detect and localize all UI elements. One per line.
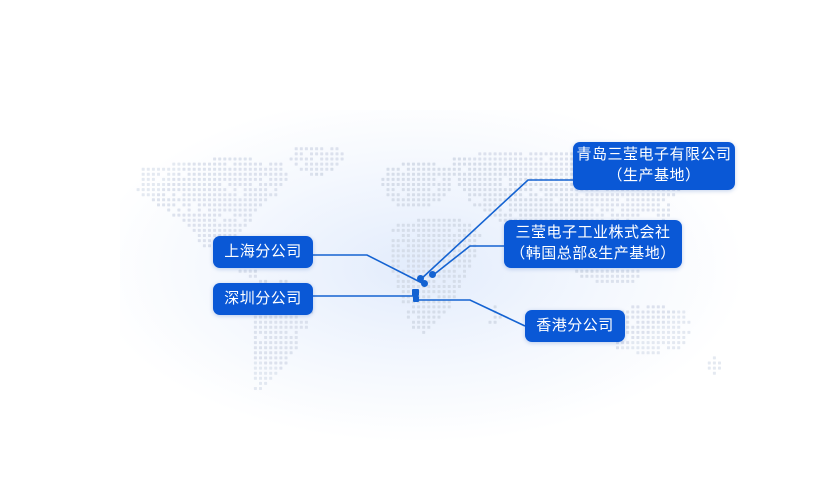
connector-hongkong bbox=[416, 300, 525, 326]
label-shanghai-line-1: 上海分公司 bbox=[224, 242, 302, 263]
label-hongkong[interactable]: 香港分公司 bbox=[525, 310, 625, 342]
label-korea-hq-line-1: 三莹电子工业株式会社 bbox=[515, 223, 670, 244]
label-qingdao-line-2: （生产基地） bbox=[607, 166, 700, 187]
connector-korea bbox=[432, 246, 504, 276]
label-shanghai[interactable]: 上海分公司 bbox=[213, 236, 313, 268]
label-qingdao[interactable]: 青岛三莹电子有限公司（生产基地） bbox=[573, 142, 735, 190]
label-shenzhen-line-1: 深圳分公司 bbox=[224, 289, 302, 310]
label-korea-hq[interactable]: 三莹电子工业株式会社（韩国总部&生产基地） bbox=[504, 220, 682, 268]
connector-lines-layer bbox=[0, 0, 824, 480]
world-distribution-map: 青岛三莹电子有限公司（生产基地）三莹电子工业株式会社（韩国总部&生产基地）上海分… bbox=[0, 0, 824, 480]
map-marker-hongkong[interactable] bbox=[413, 296, 419, 302]
label-korea-hq-line-2: （韩国总部&生产基地） bbox=[510, 244, 676, 265]
map-marker-shenzhen[interactable] bbox=[412, 289, 419, 296]
label-qingdao-line-1: 青岛三莹电子有限公司 bbox=[576, 145, 731, 166]
label-shenzhen[interactable]: 深圳分公司 bbox=[213, 283, 313, 315]
map-marker-korea[interactable] bbox=[429, 271, 436, 278]
map-marker-shanghai[interactable] bbox=[421, 280, 428, 287]
label-hongkong-line-1: 香港分公司 bbox=[536, 316, 614, 337]
connector-shanghai bbox=[313, 255, 424, 284]
